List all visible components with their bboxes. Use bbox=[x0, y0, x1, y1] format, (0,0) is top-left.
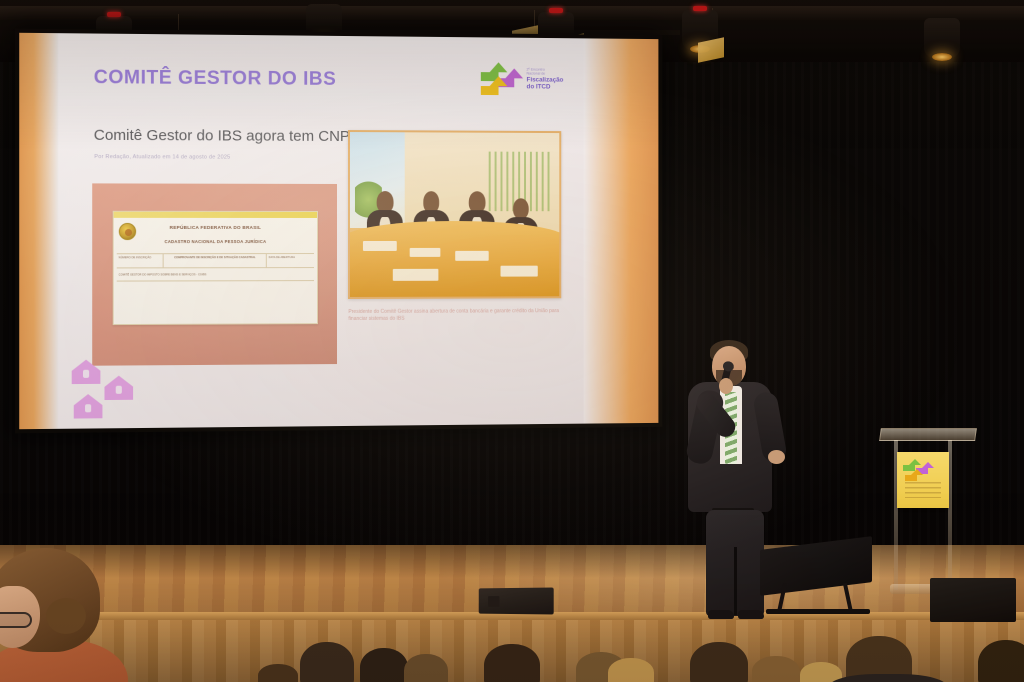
podium-banner-text-lines bbox=[905, 482, 941, 498]
photo-document bbox=[392, 269, 438, 281]
audience-head bbox=[608, 658, 654, 682]
logo-wordmark: 2º Encontro Nacional de Fiscalização do … bbox=[527, 69, 564, 91]
photo-document bbox=[501, 265, 538, 277]
cnpj-header-line-1: REPÚBLICA FEDERATIVA DO BRASIL bbox=[113, 225, 316, 230]
document-card: REPÚBLICA FEDERATIVA DO BRASIL CADASTRO … bbox=[93, 184, 337, 366]
photo-document bbox=[363, 241, 397, 251]
conference-stage-photo: COMITÊ GESTOR DO IBS Comitê Gestor do IB… bbox=[0, 0, 1024, 682]
cnpj-certificate: REPÚBLICA FEDERATIVA DO BRASIL CADASTRO … bbox=[112, 211, 317, 325]
audience-head bbox=[360, 648, 408, 682]
meeting-photo bbox=[348, 130, 560, 300]
foreground-person-hair-bun bbox=[46, 598, 86, 634]
cnpj-col-data: DATA DE ABERTURA bbox=[267, 254, 314, 267]
presenter-left-hand bbox=[719, 378, 733, 394]
foreground-audience-member bbox=[0, 548, 120, 682]
cnpj-col-numero: NÚMERO DE INSCRIÇÃO bbox=[117, 254, 165, 267]
light-indicator-led bbox=[693, 6, 707, 11]
audience-head bbox=[258, 664, 298, 682]
cnpj-col-comprovante: COMPROVANTE DE INSCRIÇÃO E DE SITUAÇÃO C… bbox=[164, 254, 266, 267]
glasses-icon bbox=[0, 612, 32, 628]
audience-head bbox=[978, 640, 1024, 682]
audience-head bbox=[484, 644, 540, 682]
audience-head bbox=[300, 642, 354, 682]
projection-screen: COMITÊ GESTOR DO IBS Comitê Gestor do IB… bbox=[15, 29, 662, 434]
slide-decoration-houses bbox=[70, 349, 220, 429]
logo-house-marks bbox=[483, 63, 522, 97]
cnpj-field-row: NÚMERO DE INSCRIÇÃO COMPROVANTE DE INSCR… bbox=[117, 253, 314, 268]
photo-document bbox=[409, 247, 440, 257]
audience-head bbox=[690, 642, 748, 682]
podium-banner bbox=[897, 452, 949, 508]
light-indicator-led bbox=[107, 12, 121, 17]
photo-inner bbox=[350, 132, 558, 298]
audience-head bbox=[752, 656, 800, 682]
light-indicator-led bbox=[549, 8, 563, 13]
lighting-truss bbox=[0, 6, 1024, 20]
slide-title: COMITÊ GESTOR DO IBS bbox=[94, 67, 337, 91]
slide-byline: Por Redação, Atualizado em 14 de agosto … bbox=[94, 154, 230, 161]
presenter-right-hand bbox=[768, 450, 785, 464]
barn-door-flap bbox=[698, 37, 724, 63]
screen-surface: COMITÊ GESTOR DO IBS Comitê Gestor do IB… bbox=[19, 33, 658, 429]
event-logo: 2º Encontro Nacional de Fiscalização do … bbox=[483, 63, 563, 97]
audience-row bbox=[0, 600, 1024, 682]
logo-line-4: do ITCD bbox=[527, 84, 564, 91]
photo-caption: Presidente do Comitê Gestor assina abert… bbox=[348, 308, 560, 323]
podium-banner-logo bbox=[905, 459, 941, 477]
stage-light-fixture bbox=[924, 18, 960, 58]
audience-head bbox=[404, 654, 448, 682]
music-stand-plate bbox=[760, 536, 872, 596]
slide-headline: Comitê Gestor do IBS agora tem CNPJ bbox=[94, 126, 358, 144]
cnpj-entity-name: COMITÊ GESTOR DO IMPOSTO SOBRE BENS E SE… bbox=[117, 271, 314, 282]
cnpj-header-line-2: CADASTRO NACIONAL DA PESSOA JURÍDICA bbox=[113, 239, 316, 244]
rig-cable bbox=[178, 14, 179, 30]
presentation-slide: COMITÊ GESTOR DO IBS Comitê Gestor do IB… bbox=[59, 33, 584, 429]
photo-document bbox=[455, 251, 488, 261]
light-lens bbox=[932, 53, 952, 61]
cnpj-header-bar bbox=[113, 212, 316, 218]
